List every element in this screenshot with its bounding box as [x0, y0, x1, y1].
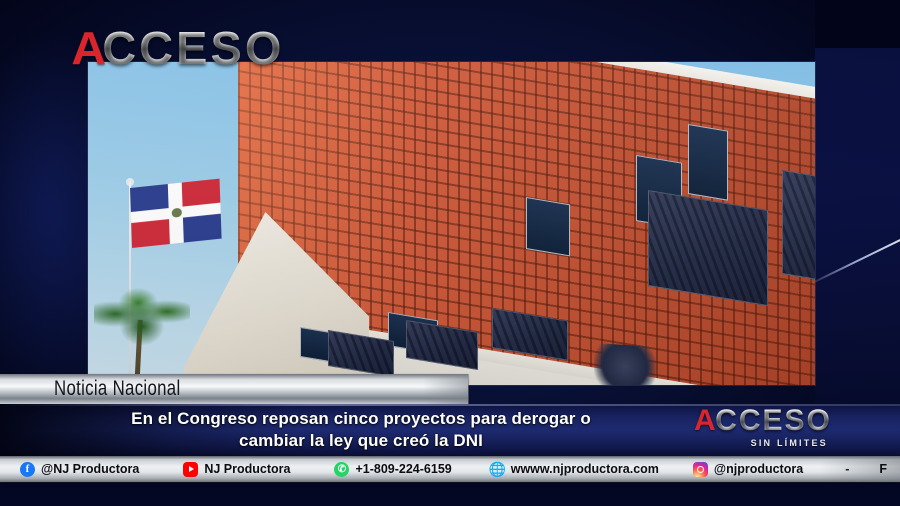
social-item-facebook[interactable]: f @NJ Productora — [20, 462, 139, 477]
broadcast-screen: CONGRESO NACIONAL A CCESO Noticia Nacion… — [0, 0, 900, 506]
social-item-whatsapp[interactable]: ✆ +1-809-224-6159 — [334, 462, 451, 477]
category-bar: Noticia Nacional — [0, 374, 468, 404]
facebook-icon: f — [20, 462, 35, 477]
channel-tagline: SIN LÍMITES — [694, 438, 832, 448]
social-handle: @njproductora — [714, 462, 803, 476]
social-handle: F — [879, 462, 887, 476]
social-item-facebook-overflow[interactable]: F — [879, 462, 887, 476]
channel-logo-top: A CCESO — [72, 24, 283, 72]
channel-logo-bottom: A CCESO SIN LÍMITES — [694, 406, 832, 448]
social-separator: - — [845, 462, 849, 476]
background-panel-right — [815, 48, 900, 408]
palm-crown — [94, 288, 190, 350]
instagram-icon — [693, 462, 708, 477]
background-panel-top-right — [815, 0, 900, 48]
category-label: Noticia Nacional — [54, 377, 181, 401]
social-item-youtube[interactable]: NJ Productora — [183, 462, 290, 477]
channel-logo-text: CCESO — [102, 25, 284, 71]
channel-logo-text: CCESO — [715, 406, 832, 436]
social-media-bar: f @NJ Productora NJ Productora ✆ +1-809-… — [0, 456, 900, 482]
dominican-flag — [130, 179, 222, 249]
coat-of-arms — [594, 343, 656, 385]
social-handle: @NJ Productora — [41, 462, 139, 476]
headline-text: En el Congreso reposan cinco proyectos p… — [96, 408, 626, 452]
globe-icon: 🌐 — [490, 462, 505, 477]
social-item-website[interactable]: 🌐 wwww.njproductora.com — [490, 462, 659, 477]
social-handle: wwww.njproductora.com — [511, 462, 659, 476]
whatsapp-icon: ✆ — [334, 462, 349, 477]
bottom-filler — [0, 482, 900, 506]
channel-logo-accent-letter: A — [71, 25, 105, 71]
social-item-instagram[interactable]: @njproductora — [693, 462, 803, 477]
social-handle: +1-809-224-6159 — [355, 462, 451, 476]
window-pane — [526, 197, 570, 256]
window-pane — [688, 124, 728, 201]
social-handle: NJ Productora — [204, 462, 290, 476]
youtube-icon — [183, 462, 198, 477]
bas-relief-panel — [648, 190, 768, 306]
news-photo: CONGRESO NACIONAL — [88, 62, 815, 385]
bas-relief-panel — [782, 170, 815, 292]
channel-logo-accent-letter: A — [694, 406, 715, 436]
